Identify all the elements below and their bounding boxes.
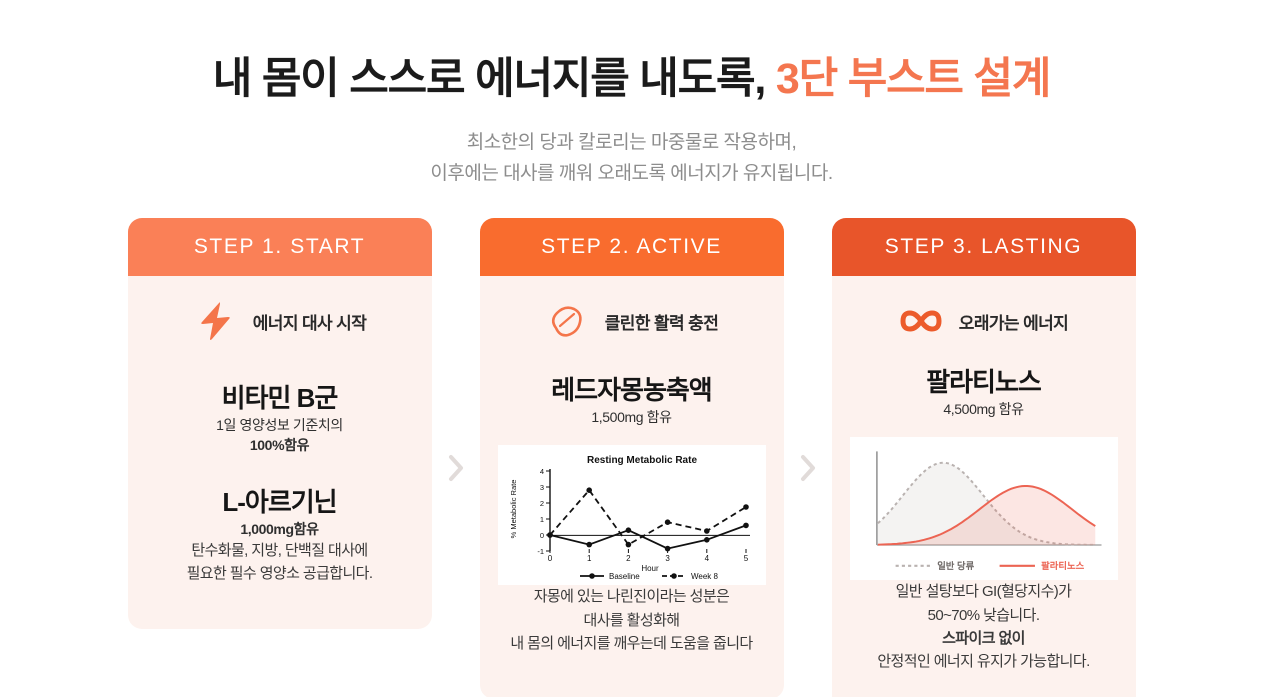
step-1-ingredient-2-sub: 1,000mg함유: [240, 519, 318, 539]
step-3-label: STEP 3. LASTING: [885, 235, 1083, 259]
svg-text:1: 1: [586, 554, 591, 563]
step-2-body: 클린한 활력 충전 레드자몽농축액 1,500mg 함유 Resting Met…: [480, 276, 784, 697]
page-title-accent: 3단 부스트 설계: [776, 55, 1050, 103]
infographic-page: 내 몸이 스스로 에너지를 내도록, 3단 부스트 설계 최소한의 당과 칼로리…: [0, 0, 1263, 697]
step-1-icon-row: 에너지 대사 시작: [146, 298, 414, 344]
step-3-desc-line-3: 스파이크 없이: [877, 627, 1089, 650]
step-card-3: STEP 3. LASTING 오래가는 에너지 팔라티노스 4,500mg 함…: [832, 218, 1136, 697]
step-2-desc-line-3: 내 몸의 에너지를 깨우는데 도움을 줍니다: [510, 632, 752, 655]
step-3-body: 오래가는 에너지 팔라티노스 4,500mg 함유: [832, 276, 1136, 697]
svg-text:Week 8: Week 8: [691, 572, 719, 581]
step-2-description: 자몽에 있는 나린진이라는 성분은 대사를 활성화해 내 몸의 에너지를 깨우는…: [510, 585, 752, 655]
step-1-desc-line-2: 필요한 필수 영양소 공급합니다.: [187, 562, 373, 585]
citrus-lemon-icon: [545, 302, 589, 340]
step-1-icon-title: 에너지 대사 시작: [253, 309, 367, 334]
svg-text:4: 4: [704, 554, 709, 563]
step-1-description: 탄수화물, 지방, 단백질 대사에 필요한 필수 영양소 공급합니다.: [187, 539, 373, 586]
resting-metabolic-rate-chart: Resting Metabolic Rate % Metabolic Rate …: [498, 445, 766, 585]
svg-text:1: 1: [539, 515, 543, 524]
subtitle-line-1: 최소한의 당과 칼로리는 마중물로 작용하며,: [0, 128, 1263, 159]
infinity-icon: [899, 308, 943, 334]
step-3-icon-row: 오래가는 에너지: [850, 298, 1118, 344]
step-1-header: STEP 1. START: [128, 218, 432, 276]
step-1-label: STEP 1. START: [194, 235, 365, 259]
svg-text:0: 0: [539, 531, 543, 540]
lightning-bolt-icon: [193, 301, 237, 341]
step-1-ingredient-1-sub-1: 1일 영양성보 기준치의: [216, 415, 343, 435]
step-1-desc-line-1: 탄수화물, 지방, 단백질 대사에: [187, 539, 373, 562]
step-3-desc-line-4: 안정적인 에너지 유지가 가능합니다.: [877, 650, 1089, 673]
svg-text:일반 당류: 일반 당류: [937, 560, 974, 571]
svg-text:팔라티노스: 팔라티노스: [1041, 560, 1084, 571]
step-3-ingredient-1: 팔라티노스: [926, 362, 1041, 399]
step-2-icon-row: 클린한 활력 충전: [498, 298, 766, 344]
step-2-ingredient-1: 레드자몽농축액: [551, 370, 711, 407]
svg-text:0: 0: [547, 554, 552, 563]
step-3-desc-line-1: 일반 설탕보다 GI(혈당지수)가: [877, 580, 1089, 603]
page-title-main: 내 몸이 스스로 에너지를 내도록,: [213, 55, 776, 103]
step-2-label: STEP 2. ACTIVE: [541, 235, 722, 259]
step-3-desc-line-2: 50~70% 낮습니다.: [877, 604, 1089, 627]
subtitle-line-2: 이후에는 대사를 깨워 오래도록 에너지가 유지됩니다.: [0, 159, 1263, 190]
svg-text:2: 2: [539, 499, 543, 508]
svg-text:Resting Metabolic Rate: Resting Metabolic Rate: [586, 455, 696, 466]
svg-text:2: 2: [626, 554, 631, 563]
step-2-desc-line-1: 자몽에 있는 나린진이라는 성분은: [510, 585, 752, 608]
step-2-header: STEP 2. ACTIVE: [480, 218, 784, 276]
chevron-right-icon-1: [432, 218, 480, 697]
step-3-ingredient-1-sub-1: 4,500mg 함유: [943, 399, 1023, 419]
page-subtitle: 최소한의 당과 칼로리는 마중물로 작용하며, 이후에는 대사를 깨워 오래도록…: [0, 128, 1263, 190]
svg-text:5: 5: [743, 554, 748, 563]
step-1-body: 에너지 대사 시작 비타민 B군 1일 영양성보 기준치의 100%함유 L-아…: [128, 276, 432, 629]
step-2-desc-line-2: 대사를 활성화해: [510, 609, 752, 632]
chevron-right-icon-2: [784, 218, 832, 697]
glycemic-response-chart: 일반 당류팔라티노스: [850, 437, 1118, 580]
step-card-row: STEP 1. START 에너지 대사 시작 비타민 B군 1일 영양성보 기…: [0, 218, 1263, 697]
svg-text:4: 4: [539, 467, 543, 476]
step-1-ingredient-2: L-아르기닌: [222, 482, 336, 519]
step-3-header: STEP 3. LASTING: [832, 218, 1136, 276]
step-3-icon-title: 오래가는 에너지: [959, 309, 1068, 334]
step-1-ingredient-1: 비타민 B군: [222, 378, 338, 415]
svg-text:-1: -1: [537, 547, 544, 556]
svg-text:3: 3: [539, 483, 543, 492]
svg-text:Hour: Hour: [641, 564, 659, 573]
step-2-icon-title: 클린한 활력 충전: [605, 309, 719, 334]
step-3-description: 일반 설탕보다 GI(혈당지수)가 50~70% 낮습니다. 스파이크 없이 안…: [877, 580, 1089, 673]
page-title: 내 몸이 스스로 에너지를 내도록, 3단 부스트 설계: [0, 0, 1263, 106]
step-card-2: STEP 2. ACTIVE 클린한 활력 충전 레드자몽농축액 1,500mg…: [480, 218, 784, 697]
svg-text:% Metabolic Rate: % Metabolic Rate: [509, 480, 518, 539]
step-1-ingredient-1-sub-2: 100%함유: [250, 435, 309, 455]
step-2-ingredient-1-sub-1: 1,500mg 함유: [591, 407, 671, 427]
svg-text:Baseline: Baseline: [609, 572, 640, 581]
svg-text:3: 3: [665, 554, 670, 563]
step-card-1: STEP 1. START 에너지 대사 시작 비타민 B군 1일 영양성보 기…: [128, 218, 432, 629]
